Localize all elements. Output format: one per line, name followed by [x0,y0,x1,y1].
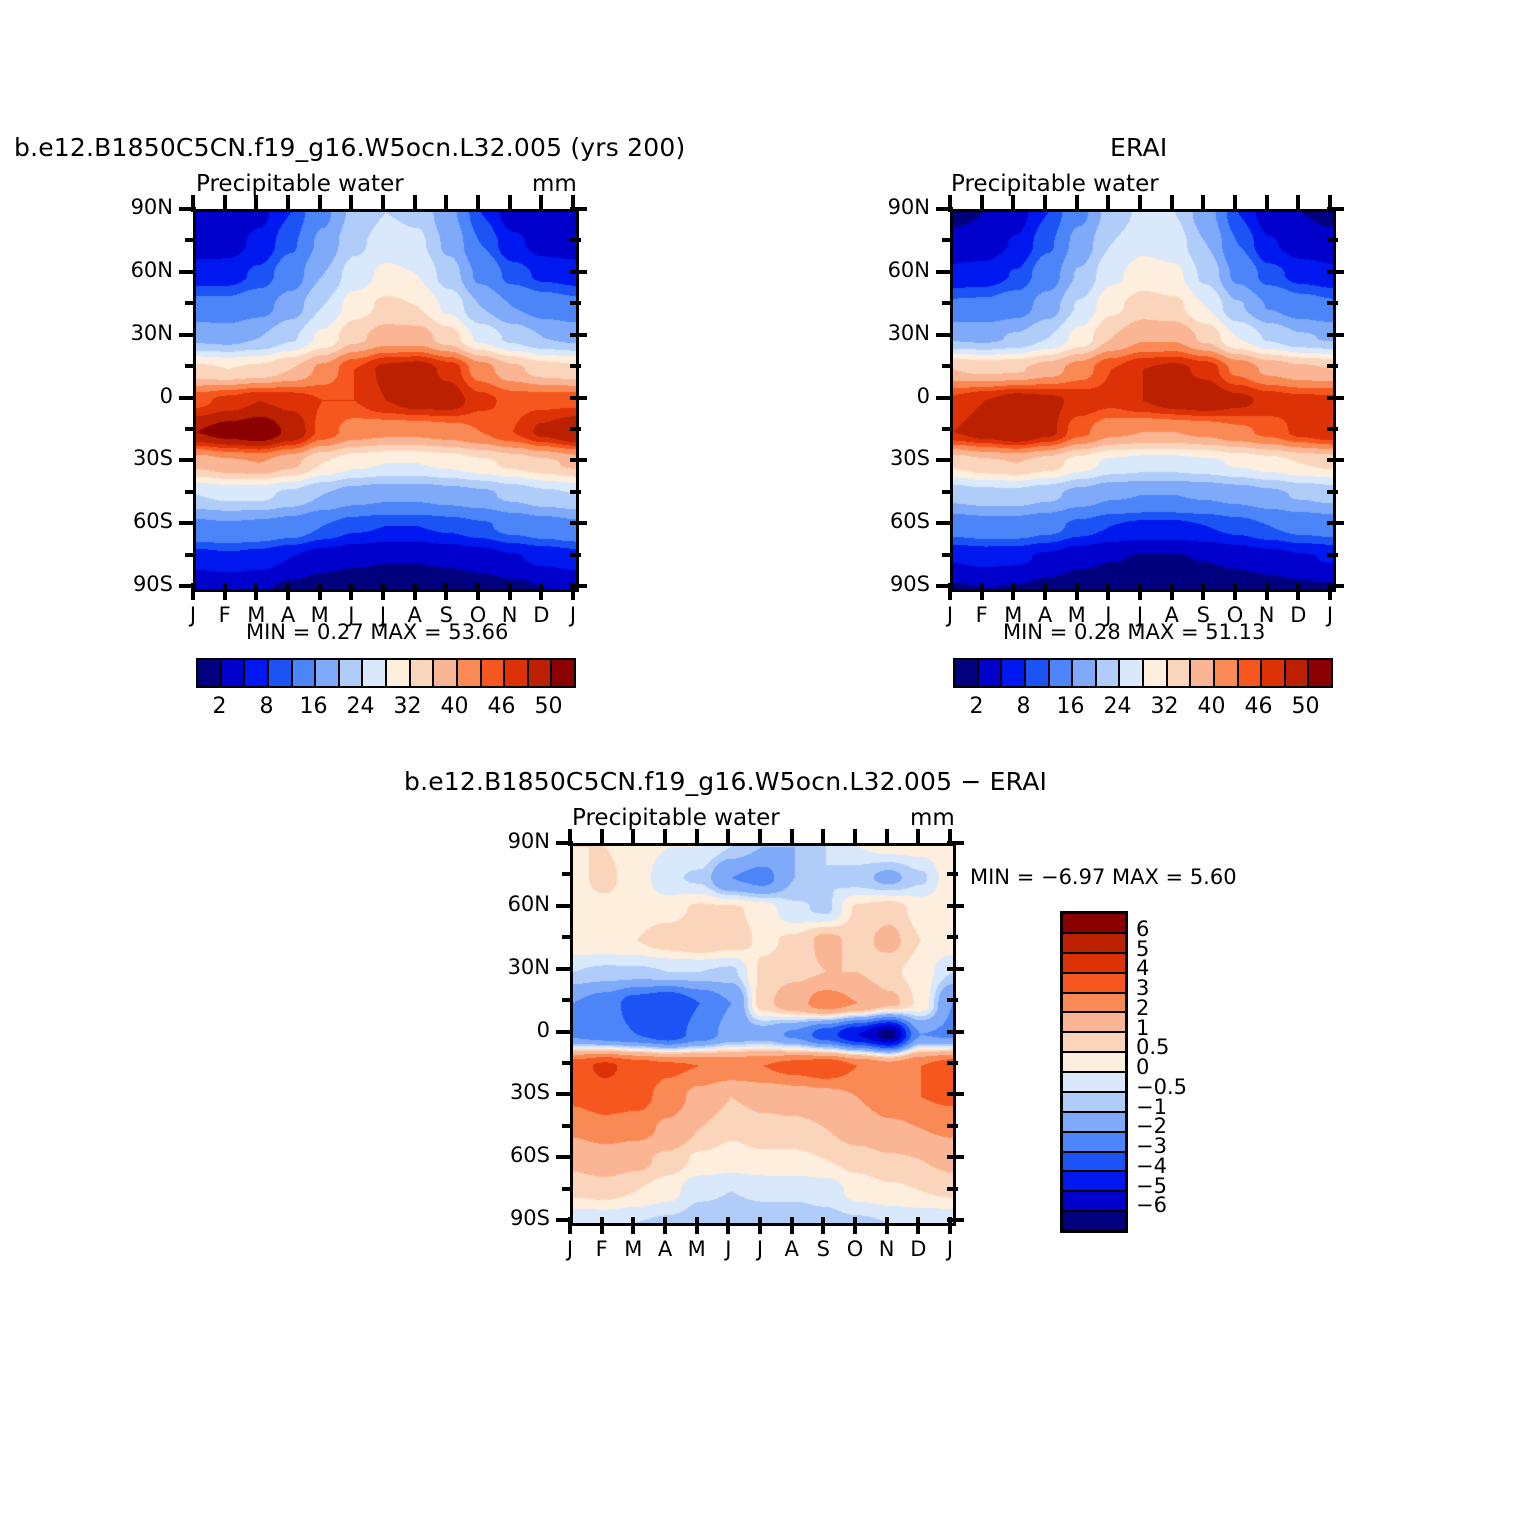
model-x-tick-bottom [571,583,575,600]
diff-y-major-tick-right [947,1092,964,1096]
diff-y-major-tick [556,1092,573,1096]
obs-y-tick-label: 0 [858,384,930,408]
model-colorbar-tick-label: 50 [525,694,573,719]
obs-colorbar-cell [1191,660,1215,686]
obs-colorbar-cell [955,660,979,686]
model-colorbar-tick-label: 46 [478,694,526,719]
obs-colorbar-cell [1026,660,1050,686]
model-x-tick-bottom [476,583,480,600]
model-x-tick-top [413,195,417,212]
obs-x-tick-bottom [1328,583,1332,600]
obs-y-major-tick [936,396,953,400]
obs-x-tick-top [1296,195,1300,212]
model-x-tick-bottom [539,583,543,600]
diff-y-minor-tick-right [947,935,958,939]
obs-y-tick-label: 90S [858,572,930,596]
obs-y-minor-tick [942,427,953,431]
model-y-minor-tick [185,553,196,557]
obs-x-tick-label: J [934,603,966,627]
model-y-minor-tick [185,238,196,242]
obs-y-major-tick [936,333,953,337]
diff-y-minor-tick [562,935,573,939]
model-y-tick-label: 30N [101,321,173,345]
model-y-major-tick-right [570,458,587,462]
obs-colorbar-cell [1097,660,1121,686]
obs-colorbar-tick-label: 32 [1141,694,1189,719]
model-colorbar-tick-label: 24 [337,694,385,719]
model-colorbar-tick-label: 40 [431,694,479,719]
model-x-tick-top [381,195,385,212]
diff-y-minor-tick [562,872,573,876]
obs-colorbar-cell [1073,660,1097,686]
diff-x-tick-top [726,829,730,846]
diff-y-major-tick [556,967,573,971]
obs-colorbar-tick-label: 16 [1047,694,1095,719]
diff-x-tick-top [600,829,604,846]
model-x-tick-top [571,195,575,212]
model-y-tick-label: 90S [101,572,173,596]
diff-panel-title: b.e12.B1850C5CN.f19_g16.W5ocn.L32.005 − … [404,767,1047,796]
diff-y-major-tick [556,1030,573,1034]
obs-x-tick-top [1106,195,1110,212]
diff-colorbar-cell [1063,1093,1125,1113]
obs-x-tick-top [1011,195,1015,212]
obs-x-tick-label: F [966,603,998,627]
obs-x-tick-label: J [1314,603,1346,627]
diff-colorbar-cell [1063,1212,1125,1230]
model-colorbar-cell [316,660,340,686]
diff-colorbar-cell [1063,914,1125,934]
obs-colorbar-cell [1239,660,1263,686]
model-colorbar-cell [363,660,387,686]
obs-y-major-tick-right [1327,270,1344,274]
diff-y-tick-label: 90N [478,829,550,853]
diff-y-tick-label: 60N [478,892,550,916]
obs-colorbar-cell [979,660,1003,686]
diff-y-major-tick [556,904,573,908]
obs-colorbar-cell [1309,660,1331,686]
model-x-tick-top [444,195,448,212]
diff-colorbar-tick-label: −6 [1136,1193,1206,1217]
model-colorbar-cell [293,660,317,686]
obs-colorbar[interactable] [953,658,1333,688]
model-y-major-tick-right [570,270,587,274]
diff-x-tick-label: D [902,1237,934,1261]
diff-x-tick-top [758,829,762,846]
model-y-minor-tick-right [570,364,581,368]
obs-x-tick-bottom [1233,583,1237,600]
diff-x-tick-label: O [839,1237,871,1261]
diff-x-tick-label: A [776,1237,808,1261]
diff-x-tick-top [948,829,952,846]
model-x-tick-top [286,195,290,212]
diff-x-tick-bottom [695,1217,699,1234]
diff-minmax-text: MIN = −6.97 MAX = 5.60 [970,865,1237,889]
model-y-major-tick-right [570,396,587,400]
obs-colorbar-tick-label: 24 [1094,694,1142,719]
diff-x-tick-bottom [885,1217,889,1234]
diff-x-tick-bottom [853,1217,857,1234]
obs-colorbar-tick-label: 50 [1282,694,1330,719]
obs-x-tick-top [1201,195,1205,212]
obs-y-minor-tick-right [1327,364,1338,368]
diff-x-tick-bottom [631,1217,635,1234]
diff-x-tick-label: N [871,1237,903,1261]
model-y-tick-label: 30S [101,446,173,470]
diff-colorbar-cell [1063,1192,1125,1212]
diff-y-minor-tick [562,998,573,1002]
obs-x-tick-top [1075,195,1079,212]
model-y-minor-tick-right [570,490,581,494]
obs-x-tick-bottom [948,583,952,600]
diff-colorbar-cell [1063,974,1125,994]
diff-colorbar-cell [1063,954,1125,974]
obs-heatmap-panel[interactable] [950,209,1336,592]
model-colorbar-cell [387,660,411,686]
model-y-minor-tick [185,427,196,431]
diff-x-tick-label: J [712,1237,744,1261]
diff-colorbar[interactable] [1060,911,1128,1233]
diff-x-tick-bottom [916,1217,920,1234]
obs-y-minor-tick [942,490,953,494]
diff-x-tick-bottom [568,1217,572,1234]
obs-y-minor-tick [942,364,953,368]
model-x-tick-top [318,195,322,212]
obs-x-tick-top [1043,195,1047,212]
diff-x-tick-top [568,829,572,846]
model-heatmap-canvas [196,212,576,589]
obs-x-tick-top [1233,195,1237,212]
model-y-minor-tick [185,490,196,494]
model-colorbar-cell [198,660,222,686]
diff-x-tick-bottom [948,1217,952,1234]
obs-x-tick-bottom [980,583,984,600]
diff-x-tick-top [885,829,889,846]
diff-y-minor-tick [562,1187,573,1191]
model-y-minor-tick-right [570,553,581,557]
diff-heatmap-panel[interactable] [570,843,956,1226]
model-y-major-tick [179,521,196,525]
obs-colorbar-cell [1262,660,1286,686]
diff-x-tick-label: J [554,1237,586,1261]
model-colorbar-cell [529,660,553,686]
diff-y-major-tick-right [947,904,964,908]
obs-colorbar-cell [1215,660,1239,686]
obs-y-minor-tick-right [1327,490,1338,494]
diff-colorbar-cell [1063,1172,1125,1192]
model-colorbar-cell [552,660,574,686]
diff-colorbar-cell [1063,934,1125,954]
diff-x-tick-bottom [758,1217,762,1234]
diff-y-minor-tick-right [947,872,958,876]
diff-x-tick-top [853,829,857,846]
obs-panel-title: ERAI [1110,133,1167,162]
model-y-major-tick-right [570,333,587,337]
diff-y-tick-label: 30S [478,1080,550,1104]
obs-x-tick-bottom [1265,583,1269,600]
model-x-tick-bottom [318,583,322,600]
model-y-minor-tick-right [570,427,581,431]
model-x-tick-label: D [525,603,557,627]
model-y-tick-label: 60S [101,509,173,533]
diff-x-tick-label: J [934,1237,966,1261]
diff-y-minor-tick-right [947,1061,958,1065]
obs-x-tick-bottom [1043,583,1047,600]
model-heatmap-panel[interactable] [193,209,579,592]
obs-y-major-tick [936,458,953,462]
obs-y-minor-tick [942,301,953,305]
model-x-tick-top [476,195,480,212]
obs-x-tick-bottom [1201,583,1205,600]
diff-x-tick-label: F [586,1237,618,1261]
diff-heatmap-canvas [573,846,953,1223]
model-colorbar-cell [222,660,246,686]
model-x-tick-bottom [223,583,227,600]
obs-colorbar-cell [1144,660,1168,686]
obs-y-major-tick-right [1327,458,1344,462]
diff-colorbar-cell [1063,1113,1125,1133]
obs-y-minor-tick-right [1327,553,1338,557]
diff-x-tick-label: A [649,1237,681,1261]
model-x-tick-top [254,195,258,212]
diff-x-tick-top [916,829,920,846]
model-y-major-tick [179,396,196,400]
model-colorbar-cell [411,660,435,686]
obs-x-tick-label: D [1282,603,1314,627]
model-x-tick-bottom [381,583,385,600]
model-y-minor-tick-right [570,301,581,305]
diff-x-tick-bottom [821,1217,825,1234]
obs-y-tick-label: 60N [858,258,930,282]
diff-colorbar-cell [1063,1133,1125,1153]
obs-colorbar-tick-label: 46 [1235,694,1283,719]
model-x-tick-label: F [209,603,241,627]
model-x-tick-label: J [177,603,209,627]
diff-y-tick-label: 0 [478,1018,550,1042]
obs-colorbar-tick-label: 40 [1188,694,1236,719]
model-y-minor-tick-right [570,238,581,242]
model-x-tick-top [223,195,227,212]
diff-colorbar-cell [1063,1013,1125,1033]
obs-variable-label: Precipitable water [951,171,1159,197]
model-colorbar-cell [269,660,293,686]
diff-y-major-tick-right [947,1155,964,1159]
model-x-tick-top [349,195,353,212]
obs-y-major-tick-right [1327,396,1344,400]
obs-x-tick-bottom [1296,583,1300,600]
diff-y-minor-tick [562,1124,573,1128]
obs-x-tick-top [1170,195,1174,212]
diff-x-tick-label: S [807,1237,839,1261]
obs-y-minor-tick [942,553,953,557]
obs-y-major-tick [936,270,953,274]
diff-y-tick-label: 30N [478,955,550,979]
diff-colorbar-cell [1063,994,1125,1014]
model-colorbar[interactable] [196,658,576,688]
diff-x-tick-label: M [617,1237,649,1261]
model-colorbar-tick-label: 8 [243,694,291,719]
obs-y-minor-tick-right [1327,301,1338,305]
model-x-tick-label: J [557,603,589,627]
diff-y-minor-tick-right [947,1124,958,1128]
diff-colorbar-cell [1063,1033,1125,1053]
obs-x-tick-bottom [1138,583,1142,600]
obs-y-minor-tick-right [1327,238,1338,242]
model-x-tick-top [191,195,195,212]
obs-colorbar-cell [1286,660,1310,686]
obs-x-tick-bottom [1075,583,1079,600]
model-y-major-tick [179,458,196,462]
obs-x-tick-top [980,195,984,212]
diff-colorbar-cell [1063,1073,1125,1093]
obs-y-major-tick [936,521,953,525]
diff-units-label: mm [910,805,955,831]
obs-colorbar-cell [1050,660,1074,686]
model-y-major-tick [179,270,196,274]
model-colorbar-cell [434,660,458,686]
diff-x-tick-label: J [744,1237,776,1261]
model-y-tick-label: 90N [101,195,173,219]
diff-x-tick-top [631,829,635,846]
diff-x-tick-bottom [663,1217,667,1234]
diff-y-major-tick [556,1155,573,1159]
model-colorbar-tick-label: 2 [196,694,244,719]
diff-y-minor-tick-right [947,1187,958,1191]
model-x-tick-bottom [254,583,258,600]
diff-colorbar-cell [1063,1153,1125,1173]
obs-x-tick-top [1265,195,1269,212]
model-x-tick-bottom [444,583,448,600]
diff-x-tick-label: M [681,1237,713,1261]
obs-y-tick-label: 90N [858,195,930,219]
diff-x-tick-bottom [790,1217,794,1234]
model-colorbar-cell [482,660,506,686]
model-x-tick-bottom [191,583,195,600]
diff-x-tick-bottom [600,1217,604,1234]
obs-x-tick-top [948,195,952,212]
model-colorbar-cell [505,660,529,686]
model-colorbar-cell [340,660,364,686]
obs-y-minor-tick [942,238,953,242]
obs-y-minor-tick-right [1327,427,1338,431]
diff-y-major-tick-right [947,1030,964,1034]
diff-y-major-tick-right [947,967,964,971]
obs-colorbar-cell [1002,660,1026,686]
model-colorbar-cell [458,660,482,686]
model-x-tick-bottom [349,583,353,600]
obs-colorbar-tick-label: 2 [953,694,1001,719]
obs-x-tick-top [1328,195,1332,212]
obs-y-major-tick-right [1327,521,1344,525]
model-x-tick-bottom [413,583,417,600]
model-y-tick-label: 60N [101,258,173,282]
model-colorbar-cell [245,660,269,686]
model-minmax-text: MIN = 0.27 MAX = 53.66 [246,620,508,644]
diff-y-tick-label: 90S [478,1206,550,1230]
diff-y-minor-tick [562,1061,573,1065]
diff-y-tick-label: 60S [478,1143,550,1167]
diff-x-tick-top [695,829,699,846]
model-x-tick-bottom [286,583,290,600]
diff-x-tick-top [790,829,794,846]
diff-y-minor-tick-right [947,998,958,1002]
obs-colorbar-tick-label: 8 [1000,694,1048,719]
diff-colorbar-cell [1063,1053,1125,1073]
model-y-minor-tick [185,364,196,368]
model-colorbar-tick-label: 16 [290,694,338,719]
obs-x-tick-top [1138,195,1142,212]
obs-x-tick-bottom [1106,583,1110,600]
diff-x-tick-top [821,829,825,846]
model-y-major-tick [179,333,196,337]
diff-x-tick-bottom [726,1217,730,1234]
model-x-tick-top [539,195,543,212]
obs-x-tick-bottom [1011,583,1015,600]
diff-x-tick-top [663,829,667,846]
obs-colorbar-cell [1168,660,1192,686]
model-x-tick-top [508,195,512,212]
model-colorbar-tick-label: 32 [384,694,432,719]
obs-minmax-text: MIN = 0.28 MAX = 51.13 [1003,620,1265,644]
model-y-major-tick-right [570,521,587,525]
obs-x-tick-bottom [1170,583,1174,600]
model-x-tick-bottom [508,583,512,600]
obs-y-major-tick-right [1327,333,1344,337]
obs-colorbar-cell [1120,660,1144,686]
obs-heatmap-canvas [953,212,1333,589]
obs-y-tick-label: 30S [858,446,930,470]
model-panel-title: b.e12.B1850C5CN.f19_g16.W5ocn.L32.005 (y… [14,133,685,162]
obs-y-tick-label: 60S [858,509,930,533]
model-variable-label: Precipitable water [196,171,404,197]
model-units-label: mm [532,171,577,197]
model-y-tick-label: 0 [101,384,173,408]
model-y-minor-tick [185,301,196,305]
diff-variable-label: Precipitable water [572,805,780,831]
obs-y-tick-label: 30N [858,321,930,345]
